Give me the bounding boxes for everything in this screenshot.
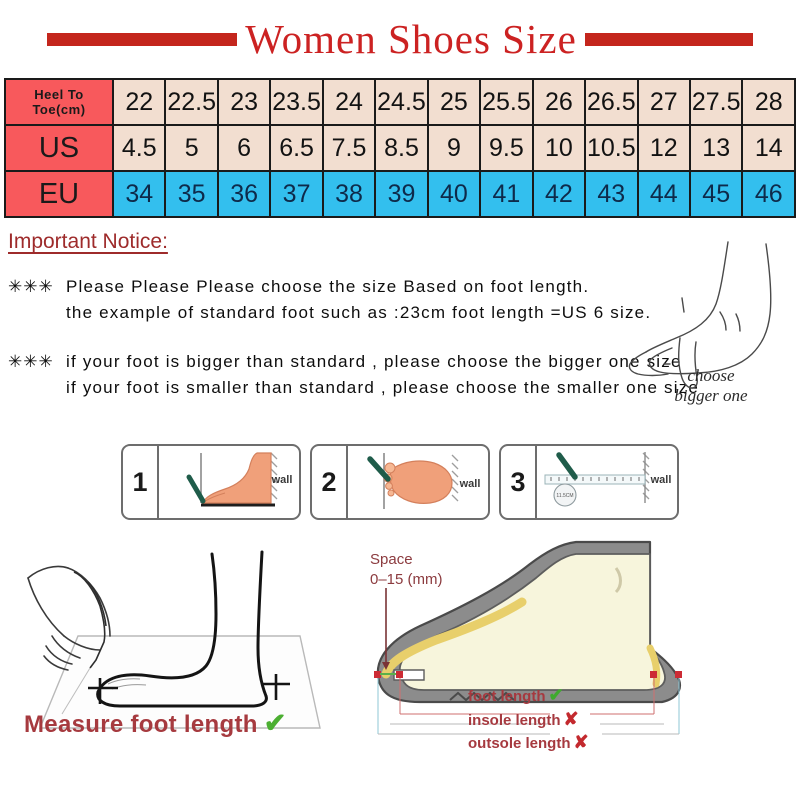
notice-text-1a: Please Please Please choose the size Bas… (66, 277, 589, 296)
measure-foot-length-panel: Measure foot length✔ (0, 528, 350, 763)
space-gap-label: Space 0–15 (mm) (370, 550, 443, 591)
cell-cm-3: 23.5 (271, 80, 321, 124)
cell-cm-11: 27.5 (691, 80, 741, 124)
cell-us-3: 6.5 (271, 126, 321, 170)
cell-us-8: 10 (534, 126, 584, 170)
ruler-measure-icon: 11.5CM wall (537, 446, 677, 518)
legend-row-insole-length: insole length✘ (468, 708, 589, 732)
magnifier-measurement-label: 11.5CM (556, 493, 573, 499)
step-illustration-2: wall (348, 446, 488, 518)
row-label-heel-to-toe: Heel To Toe(cm) (6, 80, 112, 124)
title-rule-left (47, 33, 237, 46)
size-table-body: Heel To Toe(cm) 22 22.5 23 23.5 24 24.5 … (6, 80, 794, 216)
notice-heading: Important Notice: (8, 230, 800, 254)
space-label-line2: 0–15 (mm) (370, 571, 443, 588)
cell-eu-10: 44 (639, 172, 689, 216)
notice-line-1b: the example of standard foot such as :23… (8, 300, 800, 326)
title-rule-right (585, 33, 753, 46)
legend-text-outsole-length: outsole length (468, 735, 571, 752)
cell-cm-8: 26 (534, 80, 584, 124)
cell-us-0: 4.5 (114, 126, 164, 170)
measure-caption-text: Measure foot length (24, 711, 258, 738)
cell-us-10: 12 (639, 126, 689, 170)
step-number-2: 2 (312, 446, 348, 518)
cell-us-4: 7.5 (324, 126, 374, 170)
step-number-3: 3 (501, 446, 537, 518)
cell-us-2: 6 (219, 126, 269, 170)
cell-cm-4: 24 (324, 80, 374, 124)
wall-label-1: wall (271, 474, 293, 486)
green-check-icon: ✔ (264, 708, 287, 738)
notice-block-1: ✳✳✳Please Please Please choose the size … (8, 274, 800, 327)
row-label-us: US (6, 126, 112, 170)
cell-eu-8: 42 (534, 172, 584, 216)
shoe-cross-section-panel: Space 0–15 (mm) foot length✔ insole leng… (350, 528, 800, 763)
step-panel-1: 1 wall (121, 444, 301, 520)
cell-eu-2: 36 (219, 172, 269, 216)
cell-eu-3: 37 (271, 172, 321, 216)
cell-eu-11: 45 (691, 172, 741, 216)
cell-eu-6: 40 (429, 172, 479, 216)
legend-text-foot-length: foot length (468, 688, 545, 705)
legend-row-outsole-length: outsole length✘ (468, 731, 589, 755)
cell-eu-7: 41 (481, 172, 531, 216)
table-row-eu: EU 34 35 36 37 38 39 40 41 42 43 44 45 4… (6, 172, 794, 216)
step-illustration-1: wall (159, 446, 299, 518)
table-row-us: US 4.5 5 6 6.5 7.5 8.5 9 9.5 10 10.5 12 … (6, 126, 794, 170)
row-label-eu: EU (6, 172, 112, 216)
cell-us-11: 13 (691, 126, 741, 170)
green-check-icon-foot: ✔ (548, 685, 563, 705)
page-title-bar: Women Shoes Size (0, 0, 800, 78)
choose-bigger-line2: bigger one (674, 386, 747, 405)
notice-text-2a: if your foot is bigger than standard , p… (66, 352, 682, 371)
legend-text-insole-length: insole length (468, 712, 561, 729)
choose-bigger-caption: choose bigger one (646, 366, 776, 405)
size-conversion-table: Heel To Toe(cm) 22 22.5 23 23.5 24 24.5 … (4, 78, 796, 218)
red-cross-icon-outsole: ✘ (574, 732, 589, 752)
wall-label-3: wall (650, 474, 672, 486)
page-title: Women Shoes Size (245, 19, 577, 60)
wall-label-2: wall (459, 478, 481, 490)
important-notice-section: Important Notice: ✳✳✳Please Please Pleas… (0, 218, 800, 440)
red-cross-icon-insole: ✘ (564, 709, 579, 729)
cell-eu-12: 46 (743, 172, 794, 216)
asterisk-bullet-icon-2: ✳✳✳ (8, 349, 66, 375)
step-illustration-3: 11.5CM wall (537, 446, 677, 518)
measure-foot-length-caption: Measure foot length✔ (24, 708, 287, 739)
cell-cm-6: 25 (429, 80, 479, 124)
cell-us-5: 8.5 (376, 126, 426, 170)
step-panel-2: 2 wall (310, 444, 490, 520)
cell-eu-5: 39 (376, 172, 426, 216)
measuring-steps-row: 1 wall 2 (0, 444, 800, 520)
table-row-heel-to-toe: Heel To Toe(cm) 22 22.5 23 23.5 24 24.5 … (6, 80, 794, 124)
cell-cm-5: 24.5 (376, 80, 426, 124)
cell-cm-12: 28 (743, 80, 794, 124)
cell-eu-4: 38 (324, 172, 374, 216)
notice-text-1b: the example of standard foot such as :23… (66, 303, 651, 322)
cell-cm-0: 22 (114, 80, 164, 124)
cell-eu-0: 34 (114, 172, 164, 216)
cell-cm-2: 23 (219, 80, 269, 124)
step-panel-3: 3 11.5CM (499, 444, 679, 520)
notice-line-1a: ✳✳✳Please Please Please choose the size … (8, 274, 800, 300)
bottom-illustrations: Measure foot length✔ (0, 528, 800, 763)
choose-bigger-line1: choose (687, 366, 734, 385)
cell-us-1: 5 (166, 126, 216, 170)
notice-text-2b: if your foot is smaller than standard , … (66, 378, 699, 397)
cell-cm-10: 27 (639, 80, 689, 124)
cell-us-6: 9 (429, 126, 479, 170)
cell-us-7: 9.5 (481, 126, 531, 170)
space-label-line1: Space (370, 551, 413, 568)
cell-cm-7: 25.5 (481, 80, 531, 124)
legend-row-foot-length: foot length✔ (468, 684, 589, 708)
cell-us-9: 10.5 (586, 126, 636, 170)
cell-cm-9: 26.5 (586, 80, 636, 124)
cell-eu-9: 43 (586, 172, 636, 216)
asterisk-bullet-icon: ✳✳✳ (8, 274, 66, 300)
cell-eu-1: 35 (166, 172, 216, 216)
foot-side-view-icon: wall (159, 446, 299, 518)
step-number-1: 1 (123, 446, 159, 518)
cell-us-12: 14 (743, 126, 794, 170)
shoe-measurement-legend: foot length✔ insole length✘ outsole leng… (468, 684, 589, 755)
cell-cm-1: 22.5 (166, 80, 216, 124)
foot-sole-view-icon: wall (348, 446, 488, 518)
